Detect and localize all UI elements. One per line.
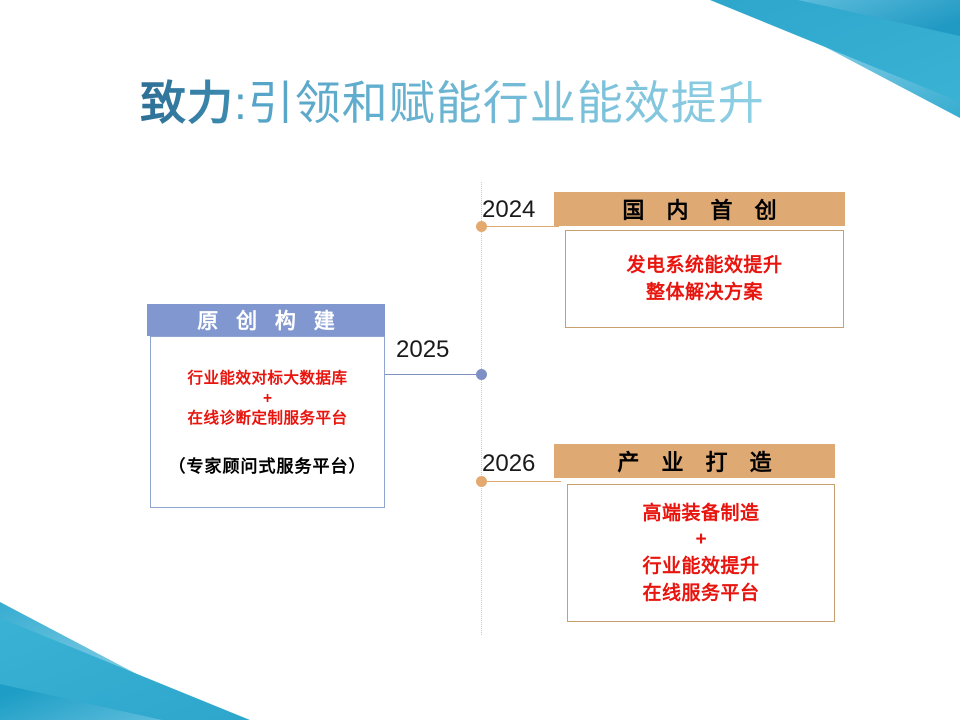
card-industry-build-line-3: 在线服务平台 <box>642 580 759 607</box>
connector-2024 <box>481 226 559 227</box>
card-industry-build-line-2: 行业能效提升 <box>642 553 759 580</box>
timeline-node-dot-2024 <box>476 221 487 232</box>
card-industry-build-body: 高端装备制造 + 行业能效提升 在线服务平台 <box>567 484 835 622</box>
card-industry-build-line-1: 高端装备制造 <box>642 500 759 527</box>
timeline-node-dot-2026 <box>476 476 487 487</box>
timeline-node-dot-2025 <box>476 369 487 380</box>
card-industry-build-plus: + <box>695 527 706 553</box>
card-origin-line-2: 在线诊断定制服务平台 <box>187 408 347 430</box>
page-title-emphasis: 致力 <box>140 77 234 129</box>
card-first-domestic-header: 国 内 首 创 <box>554 192 845 226</box>
card-industry-build[interactable]: 产 业 打 造 高端装备制造 + 行业能效提升 在线服务平台 <box>554 444 835 624</box>
card-origin-body: 行业能效对标大数据库 + 在线诊断定制服务平台 （专家顾问式服务平台） <box>150 336 385 508</box>
card-origin-plus: + <box>263 390 272 408</box>
year-label-2024: 2024 <box>482 196 535 224</box>
connector-2025 <box>385 374 483 375</box>
year-label-2025: 2025 <box>396 336 449 364</box>
page-title: 致力:引领和赋能行业能效提升 <box>140 68 840 138</box>
card-first-domestic-line-2: 整体解决方案 <box>646 279 763 306</box>
connector-2026 <box>481 481 561 482</box>
card-origin[interactable]: 原 创 构 建 行业能效对标大数据库 + 在线诊断定制服务平台 （专家顾问式服务… <box>147 304 385 508</box>
card-origin-header: 原 创 构 建 <box>147 304 385 336</box>
card-industry-build-header: 产 业 打 造 <box>554 444 835 478</box>
card-first-domestic-line-1: 发电系统能效提升 <box>626 252 782 279</box>
card-origin-note: （专家顾问式服务平台） <box>169 452 367 477</box>
card-first-domestic-body: 发电系统能效提升 整体解决方案 <box>565 230 844 328</box>
vertical-dotted-timeline <box>481 182 482 635</box>
card-first-domestic[interactable]: 国 内 首 创 发电系统能效提升 整体解决方案 <box>554 192 845 332</box>
slide-canvas: 致力:引领和赋能行业能效提升 2024 国 内 首 创 发电系统能效提升 整体解… <box>0 0 960 720</box>
year-label-2026: 2026 <box>482 450 535 478</box>
diagonal-ribbon-decoration-bottom-left <box>0 590 420 720</box>
card-origin-line-1: 行业能效对标大数据库 <box>187 368 347 390</box>
page-title-rest: :引领和赋能行业能效提升 <box>234 77 765 129</box>
